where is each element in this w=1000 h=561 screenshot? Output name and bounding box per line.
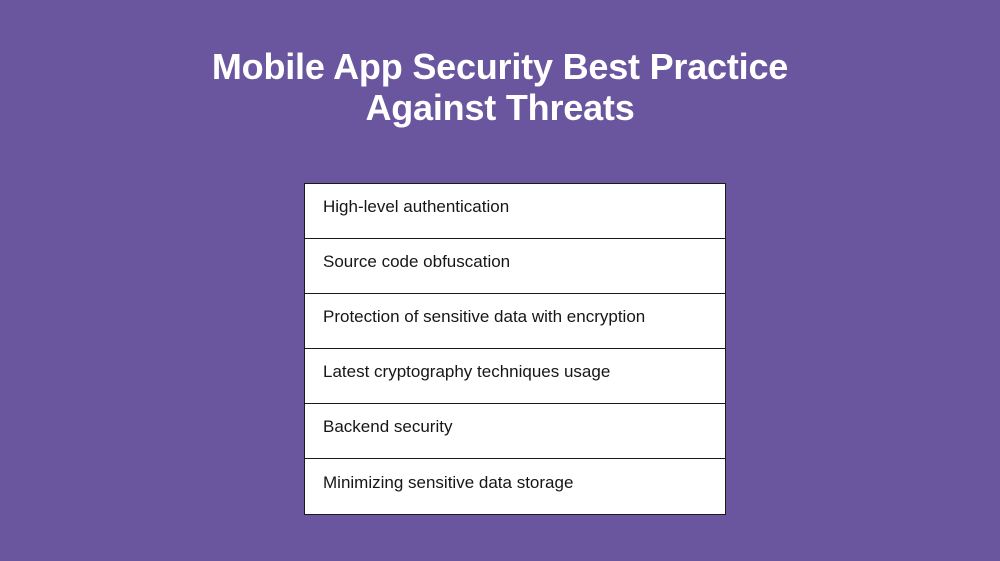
page-title-line-2: Against Threats <box>0 87 1000 128</box>
table-row-label: Backend security <box>323 416 452 438</box>
table-row-label: Protection of sensitive data with encryp… <box>323 306 645 328</box>
table-row: Backend security <box>305 404 725 459</box>
table-row: Protection of sensitive data with encryp… <box>305 294 725 349</box>
page-title: Mobile App Security Best Practice Agains… <box>0 46 1000 128</box>
table-row-label: Minimizing sensitive data storage <box>323 472 573 494</box>
table-row-label: Source code obfuscation <box>323 251 510 273</box>
page-title-line-1: Mobile App Security Best Practice <box>0 46 1000 87</box>
best-practices-table: High-level authentication Source code ob… <box>304 183 726 515</box>
table-row: High-level authentication <box>305 184 725 239</box>
table-row-label: Latest cryptography techniques usage <box>323 361 610 383</box>
table-row-label: High-level authentication <box>323 196 509 218</box>
table-row: Source code obfuscation <box>305 239 725 294</box>
table-row: Minimizing sensitive data storage <box>305 459 725 514</box>
table-row: Latest cryptography techniques usage <box>305 349 725 404</box>
slide-canvas: Mobile App Security Best Practice Agains… <box>0 0 1000 561</box>
